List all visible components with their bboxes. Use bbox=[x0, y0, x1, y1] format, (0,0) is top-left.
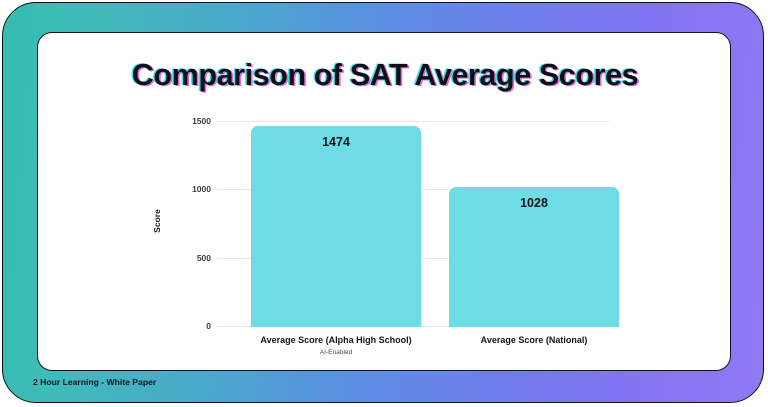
x-axis-label-national: Average Score (National) bbox=[481, 335, 588, 345]
bar-chart: Score 0 500 1000 1500 1474 bbox=[38, 33, 731, 371]
plot-area: 0 500 1000 1500 1474 1028 bbox=[217, 122, 609, 327]
x-axis-label-alpha-high-school: Average Score (Alpha High School) bbox=[260, 335, 411, 345]
content-card: Comparison of SAT Average Scores Score 0… bbox=[37, 32, 731, 371]
bar-value-label-national: 1028 bbox=[449, 196, 619, 210]
y-tick-label-1500: 1500 bbox=[192, 116, 211, 126]
bar-value-label-alpha: 1474 bbox=[251, 135, 421, 149]
y-tick-label-1000: 1000 bbox=[192, 184, 211, 194]
y-tick-label-0: 0 bbox=[206, 321, 211, 331]
y-tick-label-500: 500 bbox=[197, 253, 211, 263]
footer-label: 2 Hour Learning - White Paper bbox=[33, 377, 156, 387]
bar-alpha-high-school[interactable]: 1474 bbox=[251, 126, 421, 327]
bar-national[interactable]: 1028 bbox=[449, 187, 619, 328]
y-axis-title: Score bbox=[152, 209, 162, 233]
slide-frame: Comparison of SAT Average Scores Score 0… bbox=[2, 2, 764, 403]
x-axis-sublabel-alpha-high-school: AI-Enabled bbox=[320, 349, 353, 356]
gridline-1500: 1500 bbox=[217, 121, 609, 122]
